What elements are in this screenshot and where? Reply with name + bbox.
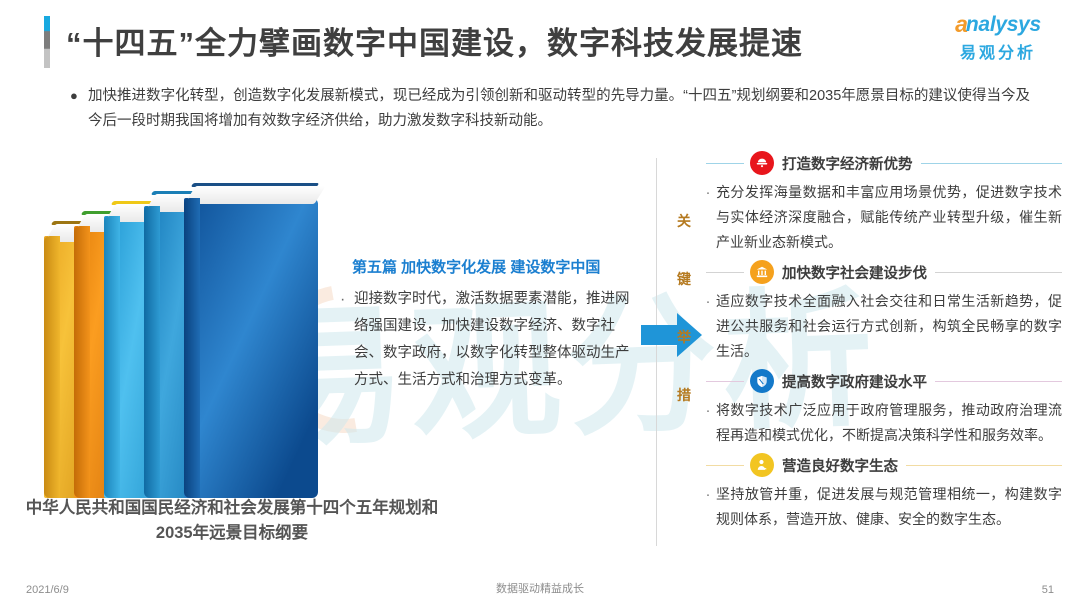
chapter-text: 迎接数字时代，激活数据要素潜能，推进网络强国建设，加快建设数字经济、数字社会、数…	[354, 286, 640, 394]
intro-bullet-icon: ●	[70, 84, 88, 134]
bank-icon	[750, 260, 774, 284]
measure-section-2: 加快数字社会建设步伐 · 适应数字技术全面融入社会交往和日常生活新趋势，促进公共…	[700, 257, 1062, 364]
logo-english: nalysys	[966, 14, 1041, 35]
section-rule-right	[921, 163, 1063, 164]
key-measures-label: 关 键 举 措	[672, 214, 696, 446]
section-bullet-icon: ·	[700, 289, 716, 364]
measure-section-1: 打造数字经济新优势 · 充分发挥海量数据和丰富应用场景优势，促进数字技术与实体经…	[700, 148, 1062, 255]
analysys-logo: a nalysys 易观分析	[938, 14, 1058, 62]
section-rule-left	[706, 465, 744, 466]
intro-paragraph: ● 加快推进数字化转型，创造数字化发展新模式，现已经成为引领创新和驱动转型的先导…	[70, 84, 1030, 134]
section-rule-left	[706, 381, 744, 382]
section-bullet-icon: ·	[700, 482, 716, 532]
footer-slogan: 数据驱动精益成长	[0, 580, 1080, 596]
person-icon	[750, 453, 774, 477]
title-accent-bar	[44, 16, 50, 68]
section-rule-left	[706, 272, 744, 273]
section-text: 将数字技术广泛应用于政府管理服务，推动政府治理流程再造和模式优化，不断提高决策科…	[716, 398, 1062, 448]
section-title: 营造良好数字生态	[774, 455, 906, 476]
page-title: “十四五”全力擘画数字中国建设，数字科技发展提速	[66, 18, 803, 63]
vlabel-char-3: 举	[672, 330, 696, 344]
section-bullet-icon: ·	[700, 398, 716, 448]
intro-text: 加快推进数字化转型，创造数字化发展新模式，现已经成为引领创新和驱动转型的先导力量…	[88, 84, 1030, 134]
measure-section-3: 提高数字政府建设水平 · 将数字技术广泛应用于政府管理服务，推动政府治理流程再造…	[700, 366, 1062, 448]
vlabel-char-1: 关	[672, 214, 696, 228]
vlabel-char-2: 键	[672, 272, 696, 286]
book-dark-blue	[184, 198, 318, 498]
shield-icon	[750, 369, 774, 393]
section-rule-left	[706, 163, 744, 164]
helmet-icon	[750, 151, 774, 175]
section-text: 坚持放管并重，促进发展与规范管理相统一，构建数字规则体系，营造开放、健康、安全的…	[716, 482, 1062, 532]
key-measures-panel: 打造数字经济新优势 · 充分发挥海量数据和丰富应用场景优势，促进数字技术与实体经…	[700, 148, 1062, 534]
slide-canvas: 易观分析 “十四五”全力擘画数字中国建设，数字科技发展提速 a nalysys …	[0, 0, 1080, 608]
section-bullet-icon: ·	[700, 180, 716, 255]
measure-section-4: 营造良好数字生态 · 坚持放管并重，促进发展与规范管理相统一，构建数字规则体系，…	[700, 450, 1062, 532]
section-header: 加快数字社会建设步伐	[700, 257, 1062, 287]
books-caption: 中华人民共和国国民经济和社会发展第十四个五年规划和2035年远景目标纲要	[22, 496, 442, 546]
section-title: 加快数字社会建设步伐	[774, 262, 935, 283]
footer-page-number: 51	[1042, 584, 1054, 596]
section-header: 提高数字政府建设水平	[700, 366, 1062, 396]
section-text: 充分发挥海量数据和丰富应用场景优势，促进数字技术与实体经济深度融合，赋能传统产业…	[716, 180, 1062, 255]
chapter-paragraph: · 迎接数字时代，激活数据要素潜能，推进网络强国建设，加快建设数字经济、数字社会…	[340, 286, 640, 394]
section-title: 打造数字经济新优势	[774, 153, 921, 174]
section-rule-right	[906, 465, 1062, 466]
books-illustration	[44, 168, 319, 498]
section-header: 打造数字经济新优势	[700, 148, 1062, 178]
section-text: 适应数字技术全面融入社会交往和日常生活新趋势，促进公共服务和社会运行方式创新，构…	[716, 289, 1062, 364]
section-rule-right	[935, 381, 1062, 382]
section-header: 营造良好数字生态	[700, 450, 1062, 480]
logo-chinese: 易观分析	[960, 39, 1036, 63]
vlabel-char-4: 措	[672, 388, 696, 402]
chapter-bullet-icon: ·	[340, 286, 354, 394]
section-title: 提高数字政府建设水平	[774, 371, 935, 392]
section-rule-right	[935, 272, 1062, 273]
chapter-heading: 第五篇 加快数字化发展 建设数字中国	[352, 256, 600, 277]
